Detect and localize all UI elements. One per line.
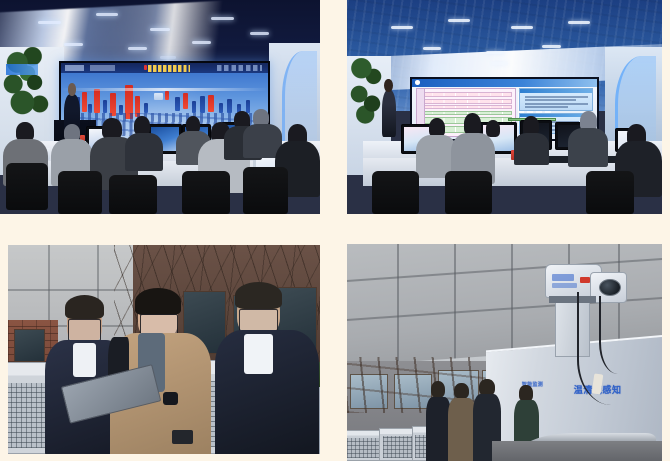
ceiling-light — [511, 26, 533, 29]
building-highlighted — [165, 91, 170, 100]
ceiling-light — [128, 47, 147, 50]
slide-header-bar — [412, 79, 597, 87]
building-highlighted — [183, 93, 188, 109]
person-head — [523, 116, 539, 135]
office-chair — [58, 171, 103, 214]
ceiling-light — [492, 62, 508, 65]
ceiling-light — [423, 47, 442, 50]
office-chair — [243, 167, 288, 214]
presenter-person — [382, 90, 396, 137]
river-band — [61, 88, 268, 91]
building — [103, 100, 107, 113]
hvac-unit — [347, 430, 383, 461]
ceiling-light — [211, 17, 233, 20]
slide-bullet-icon — [415, 80, 421, 85]
wristwatch — [163, 392, 178, 405]
building — [200, 96, 205, 113]
camera-brand-label — [552, 274, 574, 281]
ceiling-light — [391, 26, 413, 29]
ceiling-light — [448, 19, 470, 22]
photo-bottom-left-scene — [8, 245, 320, 454]
office-chair — [6, 163, 48, 210]
photo-collage: 温清域感知 智能监测 — [0, 0, 670, 461]
ceiling-light — [542, 45, 561, 48]
ceiling-light — [160, 56, 176, 59]
ground-surface — [492, 441, 662, 461]
building — [219, 103, 223, 114]
led-status-text — [217, 65, 263, 70]
photo-top-left[interactable] — [0, 0, 320, 214]
ceiling-light — [150, 28, 169, 31]
shirt-collar — [244, 334, 272, 374]
person-head — [486, 120, 500, 137]
window — [14, 329, 45, 362]
ceiling-light — [96, 13, 118, 16]
eyeglasses — [239, 309, 278, 332]
photo-top-right-scene — [347, 0, 662, 214]
camera-model-label — [552, 283, 577, 288]
ceiling-light — [38, 21, 60, 24]
led-title-text — [148, 65, 189, 73]
green-wall-plant — [3, 47, 54, 124]
led-record-dot — [144, 65, 147, 70]
power-cable — [599, 296, 631, 374]
person-head — [134, 116, 150, 135]
photo-top-right[interactable] — [347, 0, 662, 214]
office-chair — [109, 175, 157, 214]
building — [192, 101, 196, 113]
hair — [65, 295, 104, 320]
building — [175, 97, 180, 110]
photo-bottom-left[interactable] — [8, 245, 320, 454]
photo-top-left-scene — [0, 0, 320, 214]
hair — [235, 282, 282, 309]
person-torso — [514, 133, 549, 165]
person-torso — [568, 128, 609, 167]
eyeglasses — [68, 319, 100, 341]
slide-panel-content — [519, 88, 593, 111]
parka-pocket-label — [172, 430, 193, 445]
wall-sign — [6, 64, 38, 75]
photo-bottom-right[interactable]: 温清域感知 智能监测 — [347, 244, 662, 461]
led-menu — [65, 65, 84, 70]
building-highlighted — [82, 92, 87, 112]
ceiling-light — [486, 51, 505, 54]
building — [88, 104, 92, 113]
hair — [135, 288, 182, 316]
led-menu — [90, 65, 115, 70]
person-head — [464, 113, 481, 134]
person-torso — [125, 133, 163, 172]
office-chair — [182, 171, 230, 214]
ceiling-light — [64, 43, 83, 46]
office-chair — [445, 171, 492, 214]
person-visitor — [448, 383, 476, 461]
ceiling-light — [250, 32, 269, 35]
person-official-right — [220, 287, 314, 454]
photo-bottom-right-scene: 温清域感知 智能监测 — [347, 244, 662, 461]
person-head — [102, 118, 121, 139]
building-highlighted — [94, 89, 99, 113]
camera-indicator-light — [580, 277, 589, 284]
office-chair — [586, 171, 633, 214]
ceiling-light — [568, 21, 590, 24]
office-chair — [372, 171, 419, 214]
shirt-collar — [73, 343, 96, 377]
building-highlighted — [208, 95, 213, 112]
ceiling-light — [192, 41, 211, 44]
panel-heading — [520, 89, 592, 93]
building — [154, 93, 162, 100]
building — [144, 103, 148, 114]
building — [227, 99, 232, 114]
